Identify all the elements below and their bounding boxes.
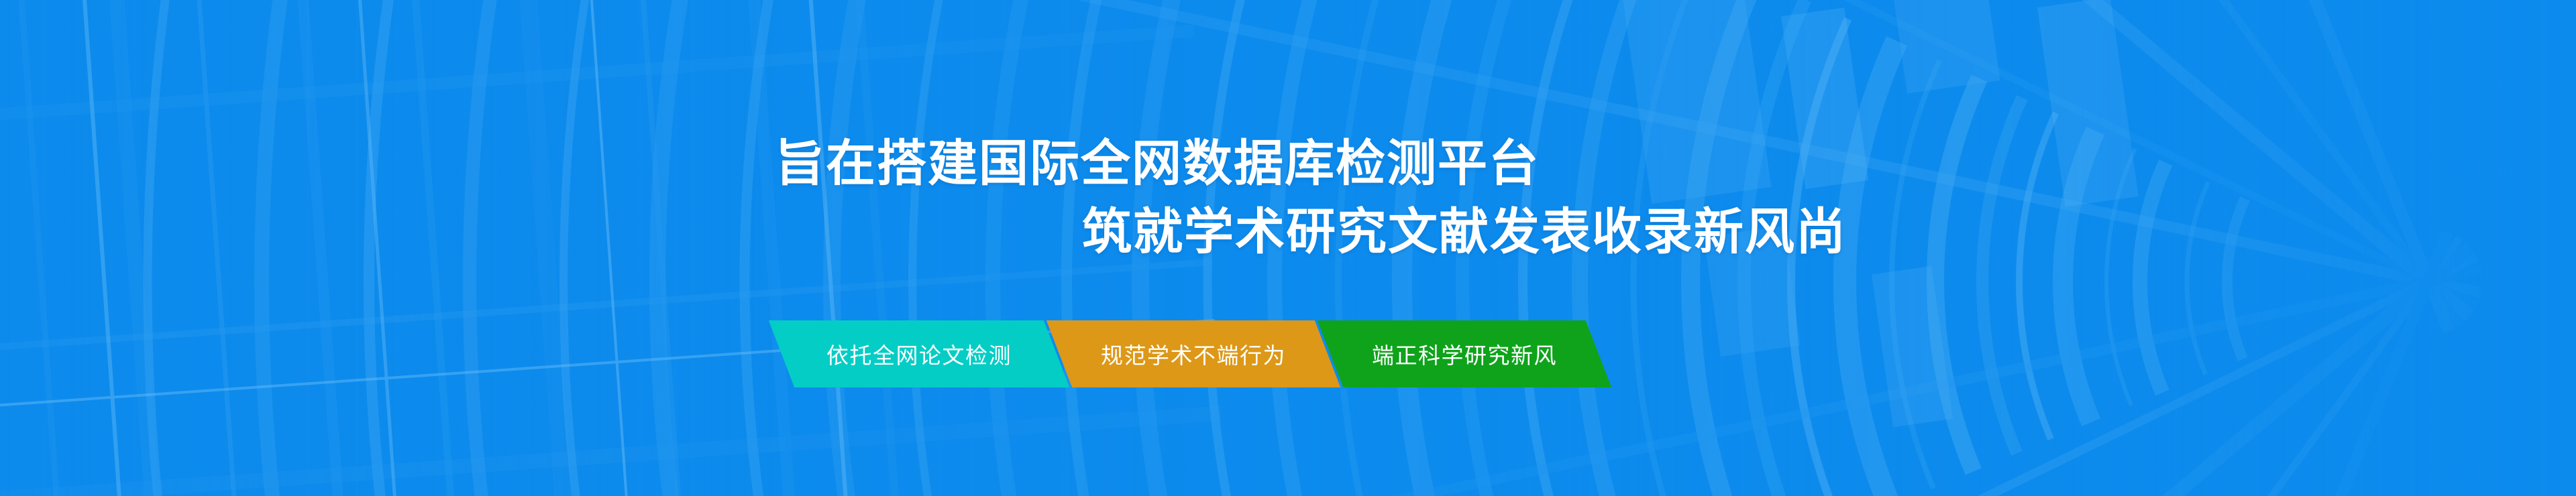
grid-bars [0,0,1231,496]
feature-tag-misconduct-regulation[interactable]: 规范学术不端行为 [1046,320,1340,387]
headline-line-1: 旨在搭建国际全网数据库检测平台 [775,131,1540,196]
feature-tag-misconduct-regulation-label: 规范学术不端行为 [1101,338,1286,370]
feature-tag-paper-detection-label: 依托全网论文检测 [826,338,1012,370]
accent-lines [0,0,1244,496]
headline-line-2: 筑就学术研究文献发表收录新风尚 [1082,200,1847,264]
feature-tag-research-ethics[interactable]: 端正科学研究新风 [1318,320,1611,387]
feature-tag-strip: 依托全网论文检测 规范学术不端行为 端正科学研究新风 [782,320,1601,387]
hero-banner: 旨在搭建国际全网数据库检测平台 筑就学术研究文献发表收录新风尚 依托全网论文检测… [0,0,2576,496]
feature-tag-research-ethics-label: 端正科学研究新风 [1372,338,1557,370]
feature-tag-paper-detection[interactable]: 依托全网论文检测 [769,320,1069,387]
